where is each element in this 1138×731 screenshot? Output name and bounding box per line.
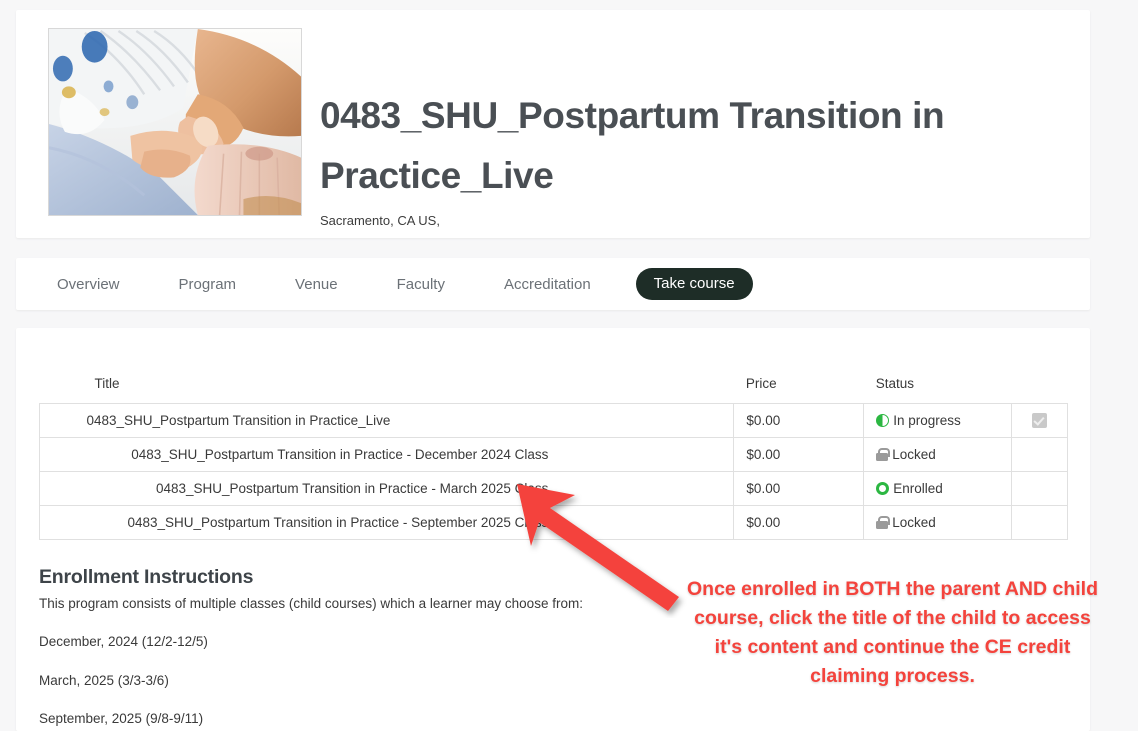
row-title-link[interactable]: 0483_SHU_Postpartum Transition in Practi… [40,438,734,472]
tab-program[interactable]: Program [160,276,256,293]
table-header: Title Price Status [40,376,1068,404]
course-location: Sacramento, CA US, [320,213,440,228]
table-row[interactable]: 0483_SHU_Postpartum Transition in Practi… [40,506,1068,540]
half-circle-progress-icon [876,414,889,427]
column-header-status: Status [864,376,1012,404]
class-date-december: December, 2024 (12/2-12/5) [39,634,208,649]
tab-venue[interactable]: Venue [276,276,357,293]
row-price: $0.00 [734,472,864,506]
row-price: $0.00 [734,438,864,472]
lock-icon [876,516,888,529]
row-status: Locked [864,438,1012,472]
tab-faculty[interactable]: Faculty [378,276,464,293]
row-title-link[interactable]: 0483_SHU_Postpartum Transition in Practi… [40,404,734,438]
row-status-label: Enrolled [893,481,943,496]
row-title-link[interactable]: 0483_SHU_Postpartum Transition in Practi… [40,472,734,506]
row-price: $0.00 [734,404,864,438]
course-content-card: Title Price Status 0483_SHU_Postpartum T… [16,328,1090,731]
table-row[interactable]: 0483_SHU_Postpartum Transition in Practi… [40,404,1068,438]
course-tabs-card: Overview Program Venue Faculty Accredita… [16,258,1090,310]
column-header-title: Title [40,376,734,404]
tab-overview[interactable]: Overview [38,276,139,293]
course-header-card: 0483_SHU_Postpartum Transition in Practi… [16,10,1090,238]
row-status: Enrolled [864,472,1012,506]
class-date-march: March, 2025 (3/3-3/6) [39,673,169,688]
course-list-table: Title Price Status 0483_SHU_Postpartum T… [39,376,1068,540]
row-status: In progress [864,404,1012,438]
row-checkbox-checked-disabled[interactable] [1032,413,1047,428]
row-status-label: In progress [893,413,961,428]
column-header-price: Price [734,376,864,404]
table-body: 0483_SHU_Postpartum Transition in Practi… [40,404,1068,540]
tab-accreditation[interactable]: Accreditation [485,276,610,293]
take-course-button[interactable]: Take course [636,268,753,300]
table-row[interactable]: 0483_SHU_Postpartum Transition in Practi… [40,438,1068,472]
row-select-cell [1012,438,1068,472]
column-header-action [1012,376,1068,404]
page-root: 0483_SHU_Postpartum Transition in Practi… [0,0,1138,731]
table-row[interactable]: 0483_SHU_Postpartum Transition in Practi… [40,472,1068,506]
lock-icon [876,448,888,461]
ring-enrolled-icon [876,482,889,495]
row-title-link[interactable]: 0483_SHU_Postpartum Transition in Practi… [40,506,734,540]
enrollment-instructions-intro: This program consists of multiple classe… [39,596,583,611]
row-status-label: Locked [892,515,936,530]
row-price: $0.00 [734,506,864,540]
enrollment-instructions-heading: Enrollment Instructions [39,566,253,589]
course-thumbnail-image [48,28,302,216]
row-select-cell [1012,472,1068,506]
row-select-cell [1012,506,1068,540]
row-status-label: Locked [892,447,936,462]
course-tab-nav: Overview Program Venue Faculty Accredita… [16,258,753,310]
page-title: 0483_SHU_Postpartum Transition in Practi… [320,86,1060,206]
row-select-cell[interactable] [1012,404,1068,438]
class-date-september: September, 2025 (9/8-9/11) [39,711,203,726]
row-status: Locked [864,506,1012,540]
